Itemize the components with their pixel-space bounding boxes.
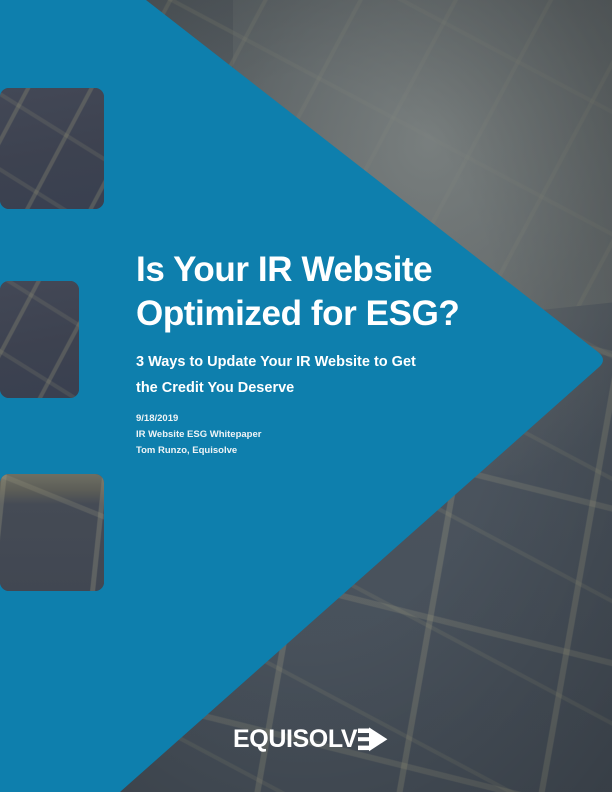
tile-3-seams — [0, 474, 104, 591]
tile-1-seams — [0, 88, 104, 209]
cover-content: Is Your IR Website Optimized for ESG? 3 … — [136, 0, 536, 792]
page-title: Is Your IR Website Optimized for ESG? — [136, 248, 526, 336]
document-metadata: 9/18/2019 IR Website ESG Whitepaper Tom … — [136, 411, 436, 459]
logo-wordmark: EQUISOLV — [233, 727, 357, 752]
page-title-line-1: Is Your IR Website — [136, 250, 432, 289]
metadata-author: Tom Runzo, Equisolve — [136, 443, 436, 459]
solar-panel-tile-1 — [0, 88, 104, 209]
page-title-line-2: Optimized for ESG? — [136, 294, 459, 333]
page-subtitle-line-1: 3 Ways to Update Your IR Website to Get — [136, 354, 416, 370]
metadata-date: 9/18/2019 — [136, 411, 436, 427]
page-subtitle-line-2: the Credit You Deserve — [136, 380, 294, 396]
document-cover-page: Is Your IR Website Optimized for ESG? 3 … — [0, 0, 612, 792]
tile-2-seams — [0, 281, 79, 398]
metadata-document-type: IR Website ESG Whitepaper — [136, 427, 436, 443]
equisolve-logo: EQUISOLV — [233, 727, 388, 752]
solar-panel-tile-3 — [0, 474, 104, 591]
page-subtitle: 3 Ways to Update Your IR Website to Get … — [136, 349, 466, 401]
solar-panel-tile-2 — [0, 281, 79, 398]
arrow-right-e-mark-icon — [358, 727, 388, 752]
